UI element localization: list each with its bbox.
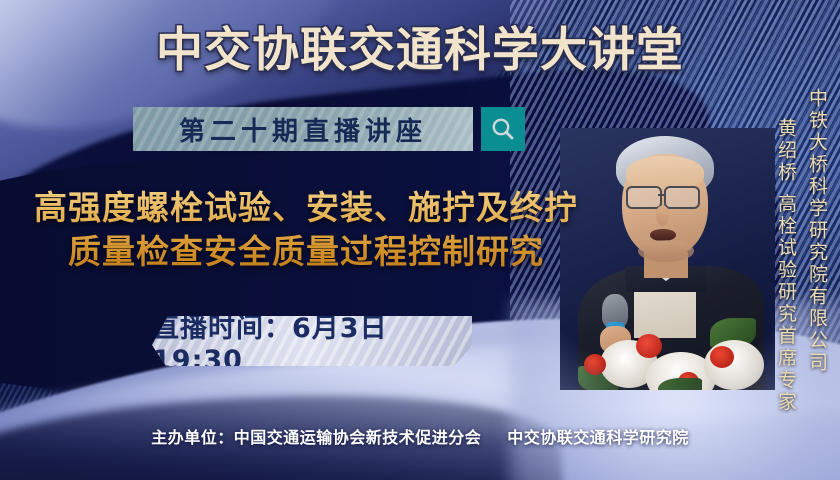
lecture-title: 高强度螺栓试验、安装、施拧及终拧 质量检查安全质量过程控制研究: [6, 186, 606, 274]
search-icon: [490, 116, 516, 142]
speaker-name-vertical: 黄绍桥 高栓试验研究首席专家: [776, 118, 795, 413]
speaker-organization-vertical: 中铁大桥科学研究院有限公司: [807, 88, 826, 374]
flower-leaf: [658, 378, 702, 390]
subtitle-label: 第二十期直播讲座: [179, 111, 427, 148]
broadcast-time-badge: 直播时间：6月3日19:30: [152, 316, 472, 366]
footer-organizer-label: 主办单位：: [151, 428, 234, 447]
flower-red: [710, 346, 734, 368]
portrait-forehead: [626, 156, 704, 190]
footer-organizers: 主办单位：中国交通运输协会新技术促进分会中交协联交通科学研究院: [0, 424, 840, 448]
subtitle-bar: 第二十期直播讲座: [133, 107, 473, 151]
lecture-title-line1: 高强度螺栓试验、安装、施拧及终拧: [34, 188, 578, 227]
portrait-glasses-bridge: [658, 194, 664, 196]
flower-red: [636, 334, 662, 358]
footer-organizer-1: 中国交通运输协会新技术促进分会: [234, 428, 482, 447]
portrait-chin: [638, 240, 694, 262]
page-title: 中交协联交通科学大讲堂: [0, 22, 840, 80]
poster-canvas: 中交协联交通科学大讲堂 第二十期直播讲座 高强度螺栓试验、安装、施拧及终拧 质量…: [0, 0, 840, 480]
search-button[interactable]: [481, 107, 525, 151]
flower-red: [584, 354, 606, 375]
broadcast-time-label: 直播时间：6月3日19:30: [152, 306, 472, 376]
portrait-glasses-right-lens: [664, 186, 700, 209]
portrait-glasses-left-lens: [626, 186, 662, 209]
portrait-nose: [656, 206, 669, 226]
lecture-title-line2: 质量检查安全质量过程控制研究: [6, 230, 606, 274]
footer-organizer-2: 中交协联交通科学研究院: [507, 428, 689, 447]
